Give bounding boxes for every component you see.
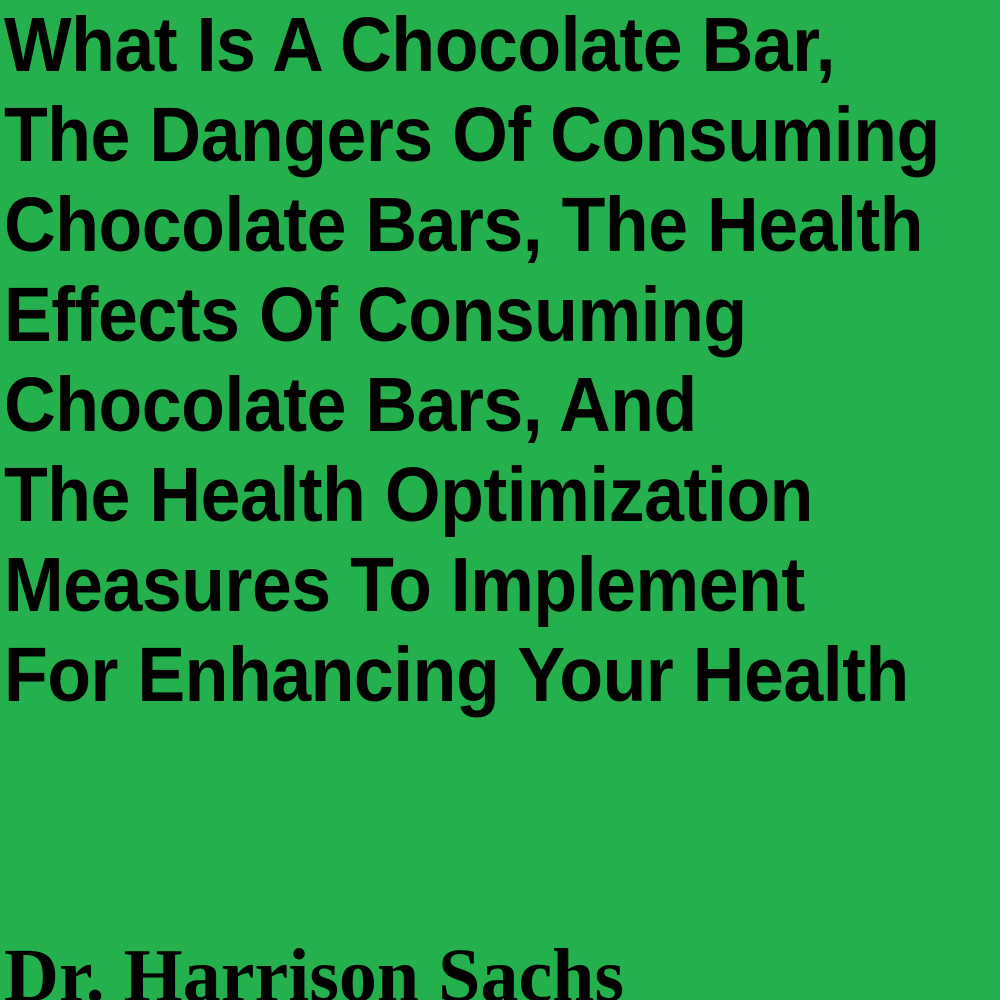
title-line-7: Measures To Implement bbox=[4, 540, 927, 630]
author-byline: Dr. Harrison Sachs bbox=[4, 938, 996, 1000]
title-line-6: The Health Optimization bbox=[4, 450, 927, 540]
title-line-3: Chocolate Bars, The Health bbox=[4, 180, 927, 270]
title-line-8: For Enhancing Your Health bbox=[4, 630, 927, 720]
page-title: What Is A Chocolate Bar, The Dangers Of … bbox=[4, 0, 996, 720]
title-line-4: Effects Of Consuming bbox=[4, 270, 927, 360]
poster-canvas: What Is A Chocolate Bar, The Dangers Of … bbox=[0, 0, 1000, 1000]
title-line-1: What Is A Chocolate Bar, bbox=[4, 0, 927, 90]
title-line-5: Chocolate Bars, And bbox=[4, 360, 927, 450]
title-line-2: The Dangers Of Consuming bbox=[4, 90, 927, 180]
